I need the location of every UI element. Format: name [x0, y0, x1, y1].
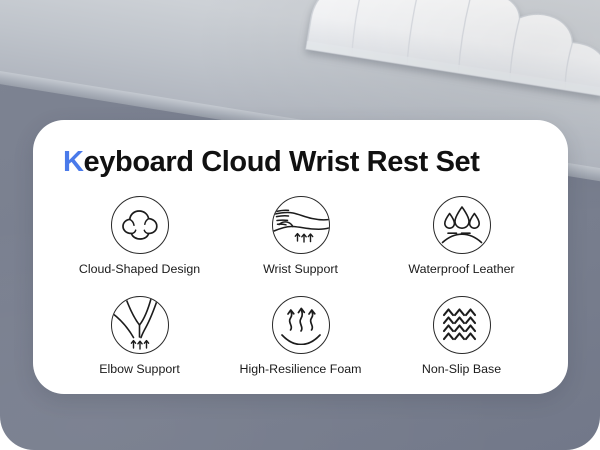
feature-label: Non-Slip Base	[422, 363, 501, 377]
feature-item-elbow-support: Elbow Support	[59, 296, 220, 396]
feature-label: High-Resilience Foam	[240, 363, 362, 377]
feature-label: Elbow Support	[99, 363, 180, 377]
feature-label: Cloud-Shaped Design	[79, 263, 200, 277]
feature-item-cloud-shaped-design: Cloud-Shaped Design	[59, 196, 220, 296]
rebound-arrows-icon	[272, 296, 330, 354]
water-drops-icon	[433, 196, 491, 254]
feature-card: Keyboard Cloud Wrist Rest Set Cloud-Shap…	[33, 120, 568, 394]
cloud-icon	[111, 196, 169, 254]
page-title: Keyboard Cloud Wrist Rest Set	[63, 148, 538, 177]
product-feature-banner: Keyboard Cloud Wrist Rest Set Cloud-Shap…	[0, 0, 600, 450]
feature-item-non-slip-base: Non-Slip Base	[381, 296, 542, 396]
feature-item-wrist-support: Wrist Support	[220, 196, 381, 296]
title-accent-letter: K	[63, 146, 84, 178]
feature-grid: Cloud-Shaped Design	[59, 196, 542, 396]
title-text: eyboard Cloud Wrist Rest Set	[84, 146, 480, 178]
wrist-hand-icon	[272, 196, 330, 254]
feature-item-waterproof-leather: Waterproof Leather	[381, 196, 542, 296]
elbow-arm-icon	[111, 296, 169, 354]
feature-label: Wrist Support	[263, 263, 338, 277]
zigzag-texture-icon	[433, 296, 491, 354]
feature-item-high-resilience-foam: High-Resilience Foam	[220, 296, 381, 396]
feature-label: Waterproof Leather	[408, 263, 514, 277]
